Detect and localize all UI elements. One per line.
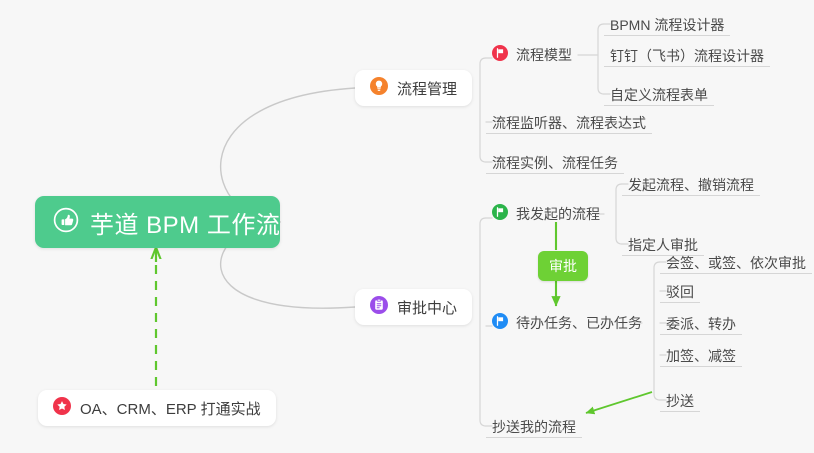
node-label: 待办任务、已办任务 xyxy=(516,313,642,333)
mindmap-canvas: 芋道 BPM 工作流 流程管理 审批中心 xyxy=(0,0,814,453)
leaf-label: 抄送我的流程 xyxy=(492,420,576,434)
leaf-label: 自定义流程表单 xyxy=(610,88,708,102)
cc-flow-arrow xyxy=(586,392,652,413)
branch-flow-management[interactable]: 流程管理 xyxy=(355,70,472,106)
leaf-reject[interactable]: 驳回 xyxy=(660,277,700,303)
leaf-label: 会签、或签、依次审批 xyxy=(666,256,806,270)
node-todo-done[interactable]: 待办任务、已办任务 xyxy=(492,312,642,334)
leaf-add-remove-sign[interactable]: 加签、减签 xyxy=(660,341,742,367)
node-process-model[interactable]: 流程模型 xyxy=(492,44,572,66)
leaf-label: 驳回 xyxy=(666,285,694,299)
leaf-label: 委派、转办 xyxy=(666,317,736,331)
clipboard-icon xyxy=(370,296,388,319)
star-icon xyxy=(53,397,71,420)
leaf-listener[interactable]: 流程监听器、流程表达式 xyxy=(486,108,652,134)
flag-icon xyxy=(492,45,508,66)
leaf-label: 流程监听器、流程表达式 xyxy=(492,116,646,130)
leaf-label: 流程实例、流程任务 xyxy=(492,156,618,170)
node-label: 我发起的流程 xyxy=(516,204,600,224)
leaf-start-cancel[interactable]: 发起流程、撤销流程 xyxy=(622,170,760,196)
leaf-label: 抄送 xyxy=(666,394,694,408)
floating-note-practice[interactable]: OA、CRM、ERP 打通实战 xyxy=(38,390,276,426)
thumbs-up-icon xyxy=(53,207,79,238)
leaf-label: BPMN 流程设计器 xyxy=(610,18,724,32)
flag-icon xyxy=(492,313,508,334)
leaf-delegate-transfer[interactable]: 委派、转办 xyxy=(660,309,742,335)
leaf-label: 发起流程、撤销流程 xyxy=(628,178,754,192)
leaf-cc[interactable]: 抄送 xyxy=(660,386,700,412)
leaf-bpmn-designer[interactable]: BPMN 流程设计器 xyxy=(604,10,730,36)
node-label: 流程模型 xyxy=(516,45,572,65)
leaf-cc-to-me[interactable]: 抄送我的流程 xyxy=(486,412,582,438)
leaf-custom-form[interactable]: 自定义流程表单 xyxy=(604,80,714,106)
branch-label: 流程管理 xyxy=(397,78,457,99)
leaf-dingtalk-designer[interactable]: 钉钉（飞书）流程设计器 xyxy=(604,41,770,67)
approval-annotation-chip[interactable]: 审批 xyxy=(538,251,588,281)
floating-note-label: OA、CRM、ERP 打通实战 xyxy=(80,398,261,419)
node-my-started[interactable]: 我发起的流程 xyxy=(492,203,600,225)
lightbulb-icon xyxy=(370,77,388,100)
branch-approval-center[interactable]: 审批中心 xyxy=(355,289,472,325)
approval-chip-label: 审批 xyxy=(549,256,577,276)
root-node[interactable]: 芋道 BPM 工作流 xyxy=(35,196,280,248)
leaf-label: 钉钉（飞书）流程设计器 xyxy=(610,49,764,63)
leaf-signing-modes[interactable]: 会签、或签、依次审批 xyxy=(660,248,812,274)
flag-icon xyxy=(492,204,508,225)
leaf-label: 加签、减签 xyxy=(666,349,736,363)
branch-label: 审批中心 xyxy=(397,297,457,318)
root-label: 芋道 BPM 工作流 xyxy=(90,205,280,240)
leaf-instance[interactable]: 流程实例、流程任务 xyxy=(486,148,624,174)
